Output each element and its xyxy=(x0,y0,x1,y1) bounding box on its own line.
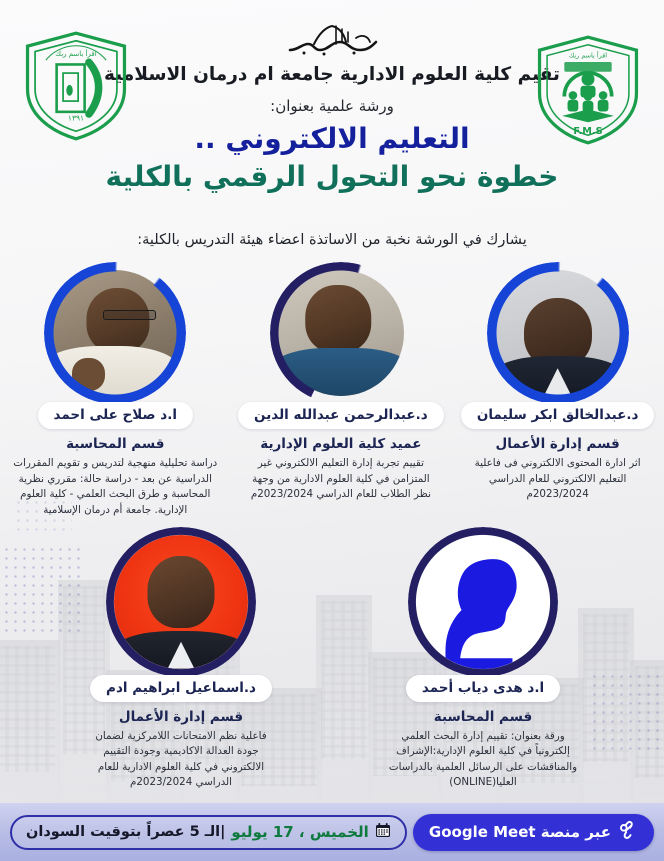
avatar xyxy=(408,527,558,677)
speaker-description: اثر ادارة المحتوى الالكتروني فى فاعلية ا… xyxy=(451,456,664,503)
speaker-name: د.عبدالرحمن عبدالله الدين xyxy=(238,402,444,429)
speaker-description: دراسة تحليلية منهجية لتدريس و تقويم المق… xyxy=(0,456,230,519)
speaker-card: ا.د صلاح على احمد قسم المحاسبة دراسة تحل… xyxy=(0,262,230,519)
speaker-description: ورقة بعنوان: تقييم إدارة البحث العلمي إل… xyxy=(375,729,591,792)
platform-label: عبر منصة Google Meet xyxy=(429,823,611,841)
avatar-ring xyxy=(44,262,186,404)
avatar xyxy=(106,527,256,677)
participants-line: يشارك في الورشة نخبة من الاساتذة اعضاء ه… xyxy=(0,232,664,248)
speaker-card: ا.د هدى دياب أحمد قسم المحاسبة ورقة بعنو… xyxy=(375,527,591,792)
workshop-title: التعليم الالكتروني .. خطوة نحو التحول ال… xyxy=(0,121,664,195)
event-time: |الـ 5 عصراً بتوقيت السودان xyxy=(26,824,225,840)
speaker-department: قسم إدارة الأعمال xyxy=(73,709,289,725)
svg-text:اقرأ باسم ربك: اقرأ باسم ربك xyxy=(569,51,607,60)
speaker-description: تقييم تجربة إدارة التعليم الالكتروني غير… xyxy=(235,456,448,503)
avatar-ring xyxy=(408,527,558,677)
avatar-ring xyxy=(487,262,629,404)
event-date: الخميس ، 17 يوليو xyxy=(231,823,368,841)
speaker-description: فاعلية نظم الامتحانات اللامركزية لضمان ج… xyxy=(73,729,289,792)
title-line-2: خطوة نحو التحول الرقمي بالكلية xyxy=(0,159,664,195)
workshop-poster: ١٣٩١ اقرأ باسم ربك اقرأ باسم ربك F.M.S xyxy=(0,0,664,861)
speaker-card: د.اسماعيل ابراهيم ادم قسم إدارة الأعمال … xyxy=(73,527,289,792)
avatar xyxy=(487,262,629,404)
speaker-card: د.عبدالخالق ابكر سليمان قسم إدارة الأعما… xyxy=(451,262,664,519)
date-time-chip: الخميس ، 17 يوليو |الـ 5 عصراً بتوقيت ال… xyxy=(10,815,407,850)
speaker-name: د.عبدالخالق ابكر سليمان xyxy=(461,402,655,429)
speakers-row-1: د.عبدالخالق ابكر سليمان قسم إدارة الأعما… xyxy=(0,262,664,519)
speakers-row-2: ا.د هدى دياب أحمد قسم المحاسبة ورقة بعنو… xyxy=(0,527,664,792)
speaker-department: قسم المحاسبة xyxy=(0,436,230,452)
speaker-name: ا.د صلاح على احمد xyxy=(38,402,193,429)
link-icon xyxy=(618,820,638,844)
speaker-name: د.اسماعيل ابراهيم ادم xyxy=(90,675,272,702)
avatar-ring xyxy=(106,527,256,677)
speaker-department: قسم إدارة الأعمال xyxy=(451,436,664,452)
calendar-icon xyxy=(375,822,391,842)
title-line-1: التعليم الالكتروني .. xyxy=(0,121,664,157)
speaker-department: قسم المحاسبة xyxy=(375,709,591,725)
speaker-name: ا.د هدى دياب أحمد xyxy=(406,675,560,702)
avatar-ring xyxy=(270,262,412,404)
avatar xyxy=(44,262,186,404)
google-meet-pill[interactable]: عبر منصة Google Meet xyxy=(413,814,654,851)
poster-footer: الخميس ، 17 يوليو |الـ 5 عصراً بتوقيت ال… xyxy=(0,803,664,861)
svg-text:اقرأ باسم ربك: اقرأ باسم ربك xyxy=(55,49,96,58)
speaker-department: عميد كلية العلوم الإدارية xyxy=(235,436,448,452)
speaker-card: د.عبدالرحمن عبدالله الدين عميد كلية العل… xyxy=(235,262,448,519)
poster-header: ١٣٩١ اقرأ باسم ربك اقرأ باسم ربك F.M.S xyxy=(0,0,664,212)
avatar xyxy=(270,262,412,404)
